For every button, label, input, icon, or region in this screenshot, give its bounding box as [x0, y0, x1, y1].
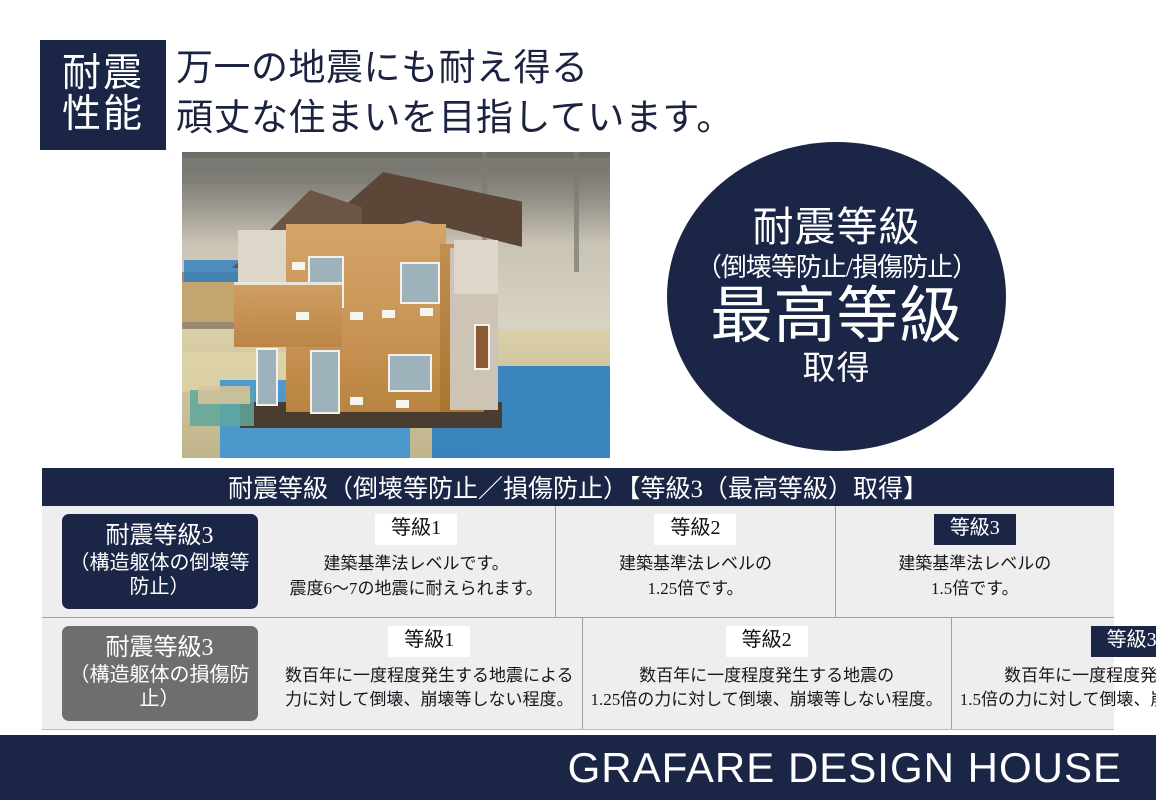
grade-cell-3: 等級3 建築基準法レベルの 1.5倍です。 [835, 506, 1114, 617]
shake-table-test-house-photo [182, 152, 610, 458]
photo-hall-beam [574, 152, 579, 272]
grade-chip: 等級2 [726, 626, 808, 657]
photo-house-door [474, 324, 490, 370]
grade-description: 数百年に一度程度発生する地震の 1.5倍の力に対して倒壊、崩壊等しない程度。 [960, 664, 1156, 713]
row-label-cell: 耐震等級3 （構造躯体の倒壊等防止） [42, 506, 277, 617]
grade-chip: 等級2 [654, 514, 736, 545]
photo-sensor-tag [292, 262, 305, 270]
section-eyebrow-badge: 耐震 性能 [40, 40, 166, 150]
photo-sensor-tag [296, 312, 309, 320]
table-body: 耐震等級3 （構造躯体の倒壊等防止） 等級1 建築基準法レベルです。 震度6〜7… [42, 506, 1114, 730]
certification-seal: 耐震等級 （倒壊等防止/損傷防止） 最高等級 取得 [667, 142, 1006, 451]
photo-sensor-tag [350, 312, 363, 320]
grade-chip: 等級1 [375, 514, 457, 545]
grade-cell-3: 等級3 数百年に一度程度発生する地震の 1.5倍の力に対して倒壊、崩壊等しない程… [951, 618, 1156, 729]
grade-description-line-2: 1.5倍の力に対して倒壊、崩壊等しない程度。 [960, 688, 1156, 713]
row-label-pill: 耐震等級3 （構造躯体の倒壊等防止） [62, 514, 258, 609]
photo-foreground-equipment [198, 386, 250, 404]
photo-sensor-tag [350, 397, 363, 405]
row-label-sub: （構造躯体の倒壊等防止） [64, 551, 256, 599]
grade-description: 建築基準法レベルの 1.5倍です。 [898, 552, 1051, 601]
table-title-bar: 耐震等級（倒壊等防止／損傷防止）【等級3（最高等級）取得】 [42, 468, 1114, 506]
table-row: 耐震等級3 （構造躯体の損傷防止） 等級1 数百年に一度程度発生する地震による … [42, 618, 1114, 730]
photo-house-window [256, 348, 278, 406]
grade-description-line-1: 建築基準法レベルの [619, 552, 772, 577]
photo-house-window [310, 350, 340, 414]
eyebrow-line-1: 耐震 [62, 54, 144, 95]
grade-description-line-1: 建築基準法レベルです。 [290, 552, 543, 577]
grade-description: 建築基準法レベルの 1.25倍です。 [619, 552, 772, 601]
seismic-grade-table: 耐震等級（倒壊等防止／損傷防止）【等級3（最高等級）取得】 耐震等級3 （構造躯… [42, 468, 1114, 730]
footer-bar: GRAFARE DESIGN HOUSE [0, 735, 1156, 800]
row-label-main: 耐震等級3 [64, 634, 256, 663]
photo-house-window [388, 354, 432, 392]
grade-description-line-2: 1.25倍です。 [619, 577, 772, 602]
grade-description-line-2: 力に対して倒壊、崩壊等しない程度。 [285, 688, 574, 713]
photo-hall-beam [182, 178, 372, 184]
grade-chip: 等級3 [934, 514, 1016, 545]
row-label-main: 耐震等級3 [64, 522, 256, 551]
grade-chip: 等級1 [388, 626, 470, 657]
grade-description-line-2: 1.25倍の力に対して倒壊、崩壊等しない程度。 [591, 688, 943, 713]
brand-name: GRAFARE DESIGN HOUSE [568, 744, 1156, 792]
headline-line-2: 頑丈な住まいを目指しています。 [176, 94, 816, 144]
grade-description-line-1: 建築基準法レベルの [898, 552, 1051, 577]
grade-description: 建築基準法レベルです。 震度6〜7の地震に耐えられます。 [290, 552, 543, 601]
seal-line-4: 取得 [803, 352, 871, 387]
grade-description-line-1: 数百年に一度程度発生する地震の [591, 664, 943, 689]
grade-description: 数百年に一度程度発生する地震の 1.25倍の力に対して倒壊、崩壊等しない程度。 [591, 664, 943, 713]
grade-cell-1: 等級1 数百年に一度程度発生する地震による 力に対して倒壊、崩壊等しない程度。 [277, 618, 582, 729]
photo-house-balcony [234, 282, 342, 347]
grade-description-line-2: 1.5倍です。 [898, 577, 1051, 602]
headline-line-1: 万一の地震にも耐え得る [176, 44, 816, 94]
photo-background-clutter [182, 282, 242, 322]
page-title: 万一の地震にも耐え得る 頑丈な住まいを目指しています。 [176, 44, 816, 143]
photo-hall-beam [182, 158, 610, 167]
grade-description-line-1: 数百年に一度程度発生する地震による [285, 664, 574, 689]
grade-cell-1: 等級1 建築基準法レベルです。 震度6〜7の地震に耐えられます。 [277, 506, 555, 617]
eyebrow-line-2: 性能 [62, 95, 144, 136]
photo-hall-beam [432, 170, 610, 176]
row-label-pill: 耐震等級3 （構造躯体の損傷防止） [62, 626, 258, 721]
grade-chip: 等級3 [1091, 626, 1156, 657]
grade-description-line-2: 震度6〜7の地震に耐えられます。 [290, 577, 543, 602]
photo-sensor-tag [382, 310, 395, 318]
photo-background-clutter [184, 260, 240, 282]
grade-description-line-1: 数百年に一度程度発生する地震の [960, 664, 1156, 689]
photo-house-upper-white-wall [454, 240, 498, 294]
photo-house-window [400, 262, 440, 304]
seal-line-1: 耐震等級 [753, 206, 921, 249]
seal-line-3: 最高等級 [710, 285, 962, 350]
grade-cell-2: 等級2 建築基準法レベルの 1.25倍です。 [555, 506, 834, 617]
row-label-cell: 耐震等級3 （構造躯体の損傷防止） [42, 618, 277, 729]
seal-line-2: （倒壊等防止/損傷防止） [696, 254, 977, 281]
grade-cell-2: 等級2 数百年に一度程度発生する地震の 1.25倍の力に対して倒壊、崩壊等しない… [582, 618, 951, 729]
table-row: 耐震等級3 （構造躯体の倒壊等防止） 等級1 建築基準法レベルです。 震度6〜7… [42, 506, 1114, 618]
grade-description: 数百年に一度程度発生する地震による 力に対して倒壊、崩壊等しない程度。 [285, 664, 574, 713]
photo-sensor-tag [420, 308, 433, 316]
row-label-sub: （構造躯体の損傷防止） [64, 663, 256, 711]
photo-sensor-tag [396, 400, 409, 408]
